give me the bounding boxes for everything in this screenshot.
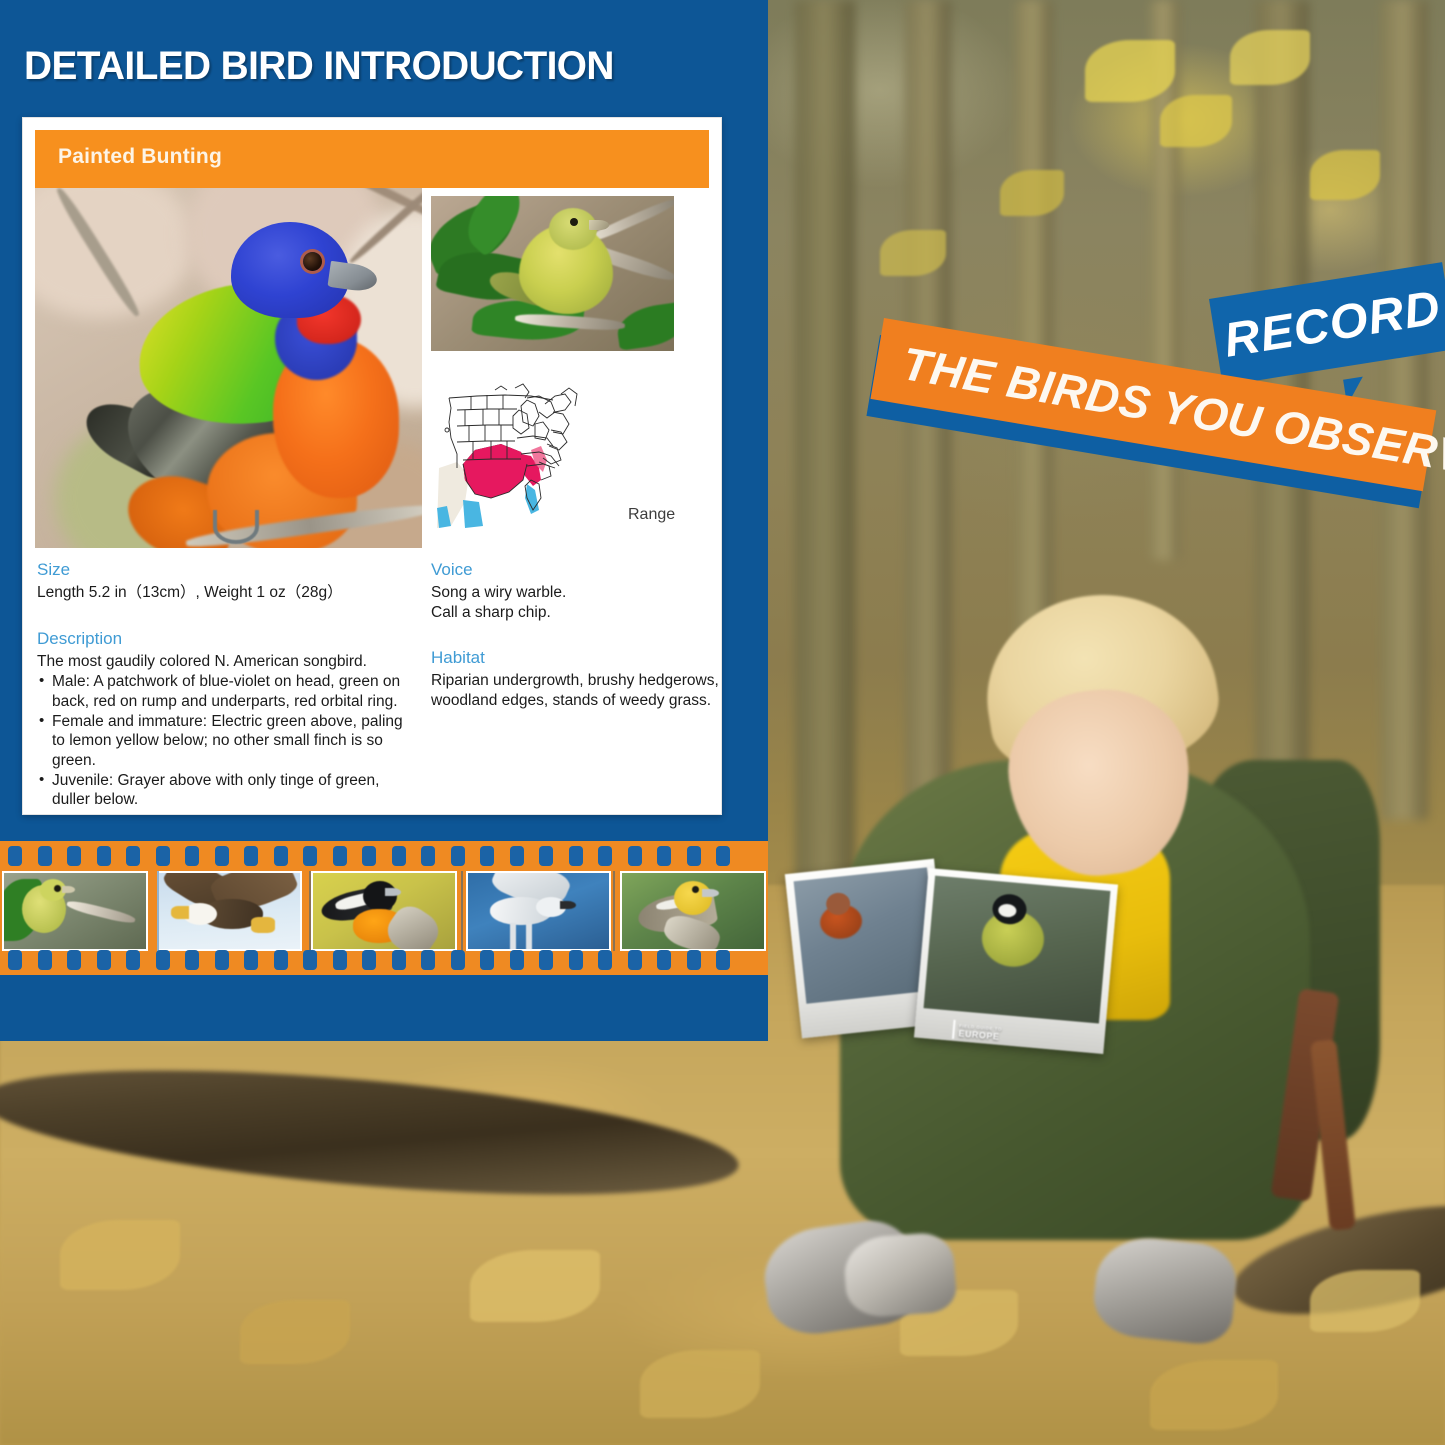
painted-bunting-female-photo [431,196,674,351]
card-right-text-column: Voice Song a wiry warble. Call a sharp c… [431,560,723,711]
filmstrip-sprockets-top [0,845,768,867]
card-header: Painted Bunting [35,130,709,188]
filmstrip-sprockets-bottom [0,949,768,971]
bird-info-card: Painted Bunting [22,117,722,815]
card-side-column: Range [431,188,723,548]
bird-photo-filmstrip [0,838,768,978]
list-item: Male: A patchwork of blue-violet on head… [37,672,417,711]
filmstrip-frame-3[interactable] [311,871,457,951]
size-body: Length 5.2 in（13cm）, Weight 1 oz（28g） [37,583,417,603]
bunting-eye [303,252,322,271]
size-heading: Size [37,560,417,580]
info-panel: DETAILED BIRD INTRODUCTION Painted Bunti… [0,0,768,1041]
range-map-label: Range [628,506,675,524]
north-america-range-map [435,376,600,542]
field-guide-book: FIELD GUIDE TO EUROPE [793,856,1111,1046]
list-item: Female and immature: Electric green abov… [37,712,417,771]
card-left-text-column: Size Length 5.2 in（13cm）, Weight 1 oz（28… [37,560,417,810]
boy-sock-pattern [842,1231,957,1318]
book-right-page: FIELD GUIDE TO EUROPE [914,868,1118,1054]
species-name: Painted Bunting [58,145,222,169]
filmstrip-frame-4[interactable] [466,871,612,951]
poster-stage: FIELD GUIDE TO EUROPE RECORD THE BIRDS Y… [0,0,1445,1445]
filmstrip-frames [0,871,768,951]
page-title: DETAILED BIRD INTRODUCTION [24,44,614,89]
voice-line-2: Call a sharp chip. [431,603,723,623]
bunting-foot [213,510,259,544]
description-heading: Description [37,629,417,649]
card-media-row: Range [35,188,709,558]
list-item: Juvenile: Grayer above with only tinge o… [37,771,417,810]
filmstrip-frame-2[interactable] [157,871,303,951]
description-intro: The most gaudily colored N. American son… [37,652,417,672]
habitat-heading: Habitat [431,648,723,668]
painted-bunting-male-photo [35,188,422,548]
voice-line-1: Song a wiry warble. [431,583,723,603]
filmstrip-frame-1[interactable] [2,871,148,951]
description-bullet-list: Male: A patchwork of blue-violet on head… [37,672,417,810]
habitat-body: Riparian undergrowth, brushy hedgerows, … [431,671,723,710]
voice-heading: Voice [431,560,723,580]
record-badge-label: RECORD [1220,280,1444,368]
filmstrip-frame-5[interactable] [620,871,766,951]
